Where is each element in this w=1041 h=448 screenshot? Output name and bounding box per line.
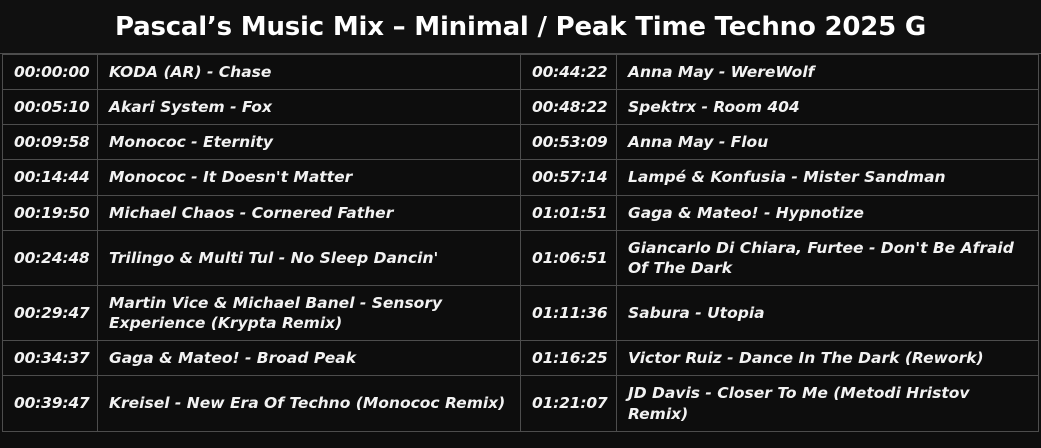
right-track-title: Sabura - Utopia: [617, 285, 1039, 340]
left-track-title: Gaga & Mateo! - Broad Peak: [98, 341, 521, 376]
right-track-title: Anna May - WereWolf: [617, 55, 1039, 90]
left-timestamp: 00:19:50: [3, 195, 98, 230]
right-track-title: Gaga & Mateo! - Hypnotize: [617, 195, 1039, 230]
left-track-title: Monococ - It Doesn't Matter: [98, 160, 521, 195]
right-timestamp: 01:01:51: [521, 195, 617, 230]
left-timestamp: 00:00:00: [3, 55, 98, 90]
left-timestamp: 00:14:44: [3, 160, 98, 195]
left-track-title: Trilingo & Multi Tul - No Sleep Dancin': [98, 230, 521, 285]
left-timestamp: 00:29:47: [3, 285, 98, 340]
table-row[interactable]: 00:34:37 Gaga & Mateo! - Broad Peak 01:1…: [3, 341, 1039, 376]
right-timestamp: 01:11:36: [521, 285, 617, 340]
right-track-title: Spektrx - Room 404: [617, 90, 1039, 125]
left-timestamp: 00:39:47: [3, 376, 98, 431]
right-track-title: JD Davis - Closer To Me (Metodi Hristov …: [617, 376, 1039, 431]
right-timestamp: 01:16:25: [521, 341, 617, 376]
table-row[interactable]: 00:00:00 KODA (AR) - Chase 00:44:22 Anna…: [3, 55, 1039, 90]
table-row[interactable]: 00:39:47 Kreisel - New Era Of Techno (Mo…: [3, 376, 1039, 431]
table-row[interactable]: 00:29:47 Martin Vice & Michael Banel - S…: [3, 285, 1039, 340]
left-track-title: Kreisel - New Era Of Techno (Monococ Rem…: [98, 376, 521, 431]
left-track-title: KODA (AR) - Chase: [98, 55, 521, 90]
tracklist-page: Pascal’s Music Mix – Minimal / Peak Time…: [0, 0, 1041, 448]
right-timestamp: 00:48:22: [521, 90, 617, 125]
tracklist-table-container: 00:00:00 KODA (AR) - Chase 00:44:22 Anna…: [0, 53, 1041, 432]
tracklist-body: 00:00:00 KODA (AR) - Chase 00:44:22 Anna…: [3, 55, 1039, 432]
right-track-title: Giancarlo Di Chiara, Furtee - Don't Be A…: [617, 230, 1039, 285]
left-timestamp: 00:09:58: [3, 125, 98, 160]
table-row[interactable]: 00:05:10 Akari System - Fox 00:48:22 Spe…: [3, 90, 1039, 125]
right-timestamp: 00:53:09: [521, 125, 617, 160]
left-track-title: Martin Vice & Michael Banel - Sensory Ex…: [98, 285, 521, 340]
left-timestamp: 00:24:48: [3, 230, 98, 285]
right-timestamp: 00:44:22: [521, 55, 617, 90]
page-title-bar: Pascal’s Music Mix – Minimal / Peak Time…: [0, 0, 1041, 53]
table-row[interactable]: 00:14:44 Monococ - It Doesn't Matter 00:…: [3, 160, 1039, 195]
right-track-title: Anna May - Flou: [617, 125, 1039, 160]
left-timestamp: 00:34:37: [3, 341, 98, 376]
page-title: Pascal’s Music Mix – Minimal / Peak Time…: [115, 14, 926, 40]
right-track-title: Victor Ruiz - Dance In The Dark (Rework): [617, 341, 1039, 376]
table-row[interactable]: 00:24:48 Trilingo & Multi Tul - No Sleep…: [3, 230, 1039, 285]
tracklist-table: 00:00:00 KODA (AR) - Chase 00:44:22 Anna…: [2, 54, 1039, 432]
table-row[interactable]: 00:19:50 Michael Chaos - Cornered Father…: [3, 195, 1039, 230]
left-timestamp: 00:05:10: [3, 90, 98, 125]
table-row[interactable]: 00:09:58 Monococ - Eternity 00:53:09 Ann…: [3, 125, 1039, 160]
left-track-title: Akari System - Fox: [98, 90, 521, 125]
right-timestamp: 01:21:07: [521, 376, 617, 431]
left-track-title: Michael Chaos - Cornered Father: [98, 195, 521, 230]
right-timestamp: 01:06:51: [521, 230, 617, 285]
left-track-title: Monococ - Eternity: [98, 125, 521, 160]
right-timestamp: 00:57:14: [521, 160, 617, 195]
right-track-title: Lampé & Konfusia - Mister Sandman: [617, 160, 1039, 195]
